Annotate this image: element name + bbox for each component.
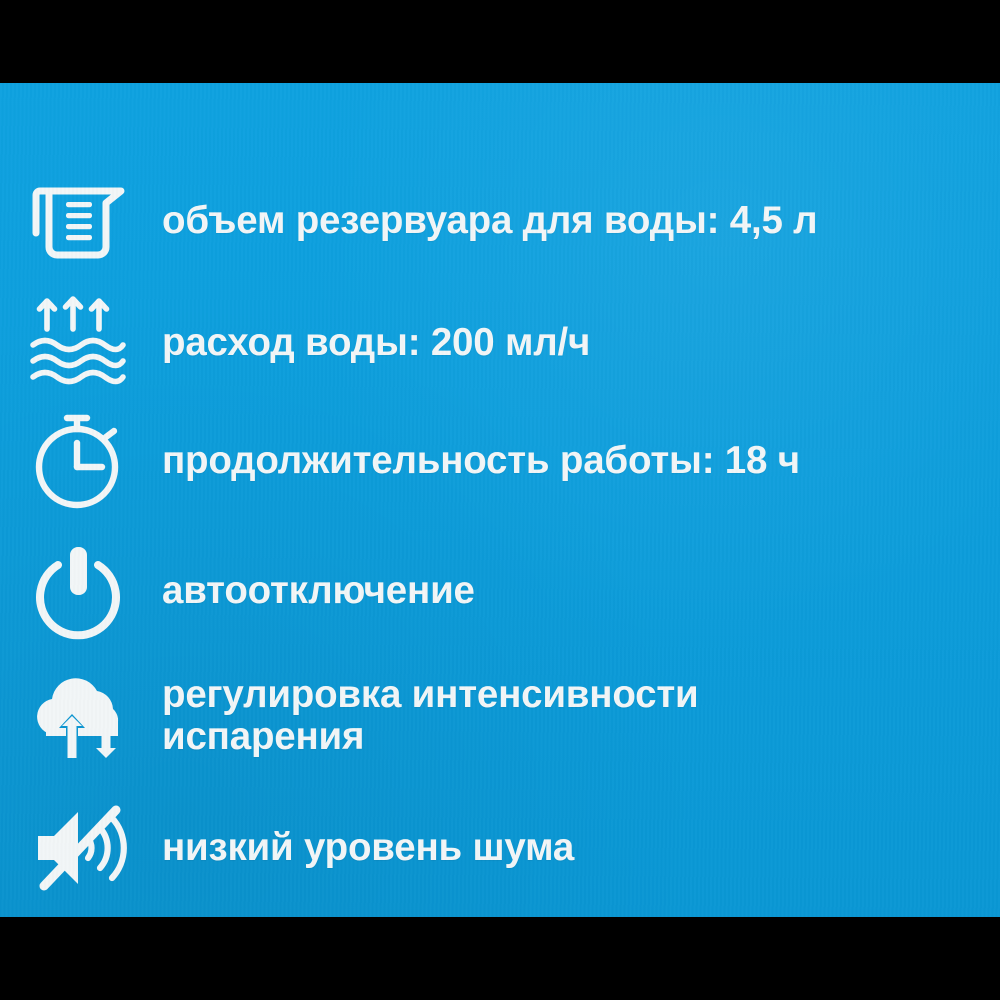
feature-label-auto-shutoff: автоотключение [162, 571, 475, 610]
water-evaporation-arrows-icon [28, 293, 146, 393]
feature-label-water-tank-volume: объем резервуара для воды: 4,5 л [162, 201, 817, 240]
feature-list-panel: объем резервуара для воды: 4,5 л [0, 83, 1000, 917]
feature-label-evaporation-intensity: регулировка интенсивности испарения [162, 674, 698, 757]
feature-row-evaporation-intensity: регулировка интенсивности испарения [28, 653, 988, 778]
letterbox-band-top [0, 0, 1000, 83]
feature-row-auto-shutoff: автоотключение [28, 533, 988, 648]
power-icon [28, 539, 146, 643]
muted-speaker-icon [28, 798, 146, 898]
stopwatch-icon [28, 409, 146, 513]
feature-row-water-tank-volume: объем резервуара для воды: 4,5 л [28, 161, 988, 281]
feature-row-water-consumption: расход воды: 200 мл/ч [28, 288, 988, 398]
measuring-jug-icon [28, 169, 146, 273]
cloud-up-down-arrows-icon [28, 666, 146, 766]
feature-row-operating-time: продолжительность работы: 18 ч [28, 403, 988, 518]
feature-label-operating-time: продолжительность работы: 18 ч [162, 441, 800, 480]
feature-row-low-noise: низкий уровень шума [28, 788, 988, 908]
feature-label-low-noise: низкий уровень шума [162, 828, 574, 867]
feature-list: объем резервуара для воды: 4,5 л [0, 83, 1000, 917]
letterbox-band-bottom [0, 917, 1000, 1000]
product-feature-panel-screenshot: объем резервуара для воды: 4,5 л [0, 0, 1000, 1000]
feature-label-water-consumption: расход воды: 200 мл/ч [162, 323, 590, 362]
